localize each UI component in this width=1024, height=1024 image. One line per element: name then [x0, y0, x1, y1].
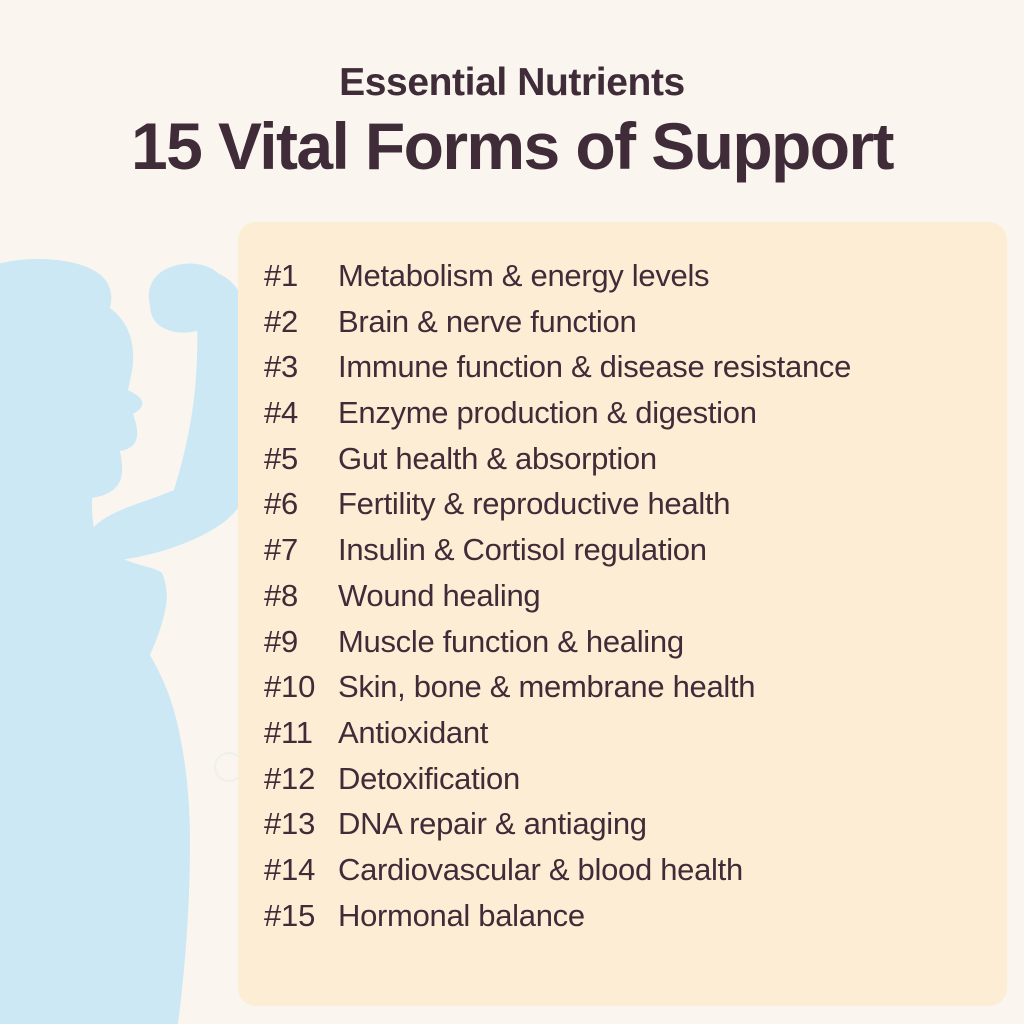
list-item-index: #15 [264, 898, 338, 934]
list-item-index: #9 [264, 624, 338, 660]
list-item: #5Gut health & absorption [264, 441, 993, 487]
eyebrow-title: Essential Nutrients [0, 0, 1024, 104]
page-title: 15 Vital Forms of Support [0, 104, 1024, 183]
list-item: #14Cardiovascular & blood health [264, 852, 993, 898]
list-item-index: #3 [264, 349, 338, 385]
list-item-index: #6 [264, 486, 338, 522]
list-item-label: Fertility & reproductive health [338, 486, 730, 522]
list-item: #15Hormonal balance [264, 898, 993, 944]
list-item-index: #12 [264, 761, 338, 797]
list-item: #10Skin, bone & membrane health [264, 669, 993, 715]
list-item: #12Detoxification [264, 761, 993, 807]
list-item: #1Metabolism & energy levels [264, 258, 993, 304]
list-item: #6Fertility & reproductive health [264, 486, 993, 532]
list-item-label: Insulin & Cortisol regulation [338, 532, 707, 568]
list-item-index: #10 [264, 669, 338, 705]
list-item-index: #1 [264, 258, 338, 294]
list-item-label: Antioxidant [338, 715, 488, 751]
list-item-label: DNA repair & antiaging [338, 806, 647, 842]
list-item: #11Antioxidant [264, 715, 993, 761]
list-item-label: Detoxification [338, 761, 520, 797]
list-item-index: #8 [264, 578, 338, 614]
list-item-index: #14 [264, 852, 338, 888]
list-item-index: #4 [264, 395, 338, 431]
nutrient-benefits-poster: Essential Nutrients 15 Vital Forms of Su… [0, 0, 1024, 1024]
list-item: #7Insulin & Cortisol regulation [264, 532, 993, 578]
list-item-index: #7 [264, 532, 338, 568]
list-item-label: Gut health & absorption [338, 441, 657, 477]
list-item-label: Immune function & disease resistance [338, 349, 851, 385]
list-item-label: Muscle function & healing [338, 624, 684, 660]
list-item: #13DNA repair & antiaging [264, 806, 993, 852]
list-item-label: Enzyme production & digestion [338, 395, 757, 431]
list-item-index: #2 [264, 304, 338, 340]
list-item: #8Wound healing [264, 578, 993, 624]
list-item: #3Immune function & disease resistance [264, 349, 993, 395]
list-item-index: #13 [264, 806, 338, 842]
list-item-label: Hormonal balance [338, 898, 585, 934]
list-item-index: #5 [264, 441, 338, 477]
list-item: #2Brain & nerve function [264, 304, 993, 350]
list-item-label: Skin, bone & membrane health [338, 669, 755, 705]
list-item-index: #11 [264, 715, 338, 751]
list-item-label: Metabolism & energy levels [338, 258, 709, 294]
list-item: #4Enzyme production & digestion [264, 395, 993, 441]
benefits-card: #1Metabolism & energy levels#2Brain & ne… [238, 222, 1007, 1006]
benefits-list: #1Metabolism & energy levels#2Brain & ne… [264, 258, 993, 943]
poster-header: Essential Nutrients 15 Vital Forms of Su… [0, 0, 1024, 183]
list-item-label: Brain & nerve function [338, 304, 636, 340]
list-item-label: Wound healing [338, 578, 540, 614]
list-item-label: Cardiovascular & blood health [338, 852, 743, 888]
list-item: #9Muscle function & healing [264, 624, 993, 670]
